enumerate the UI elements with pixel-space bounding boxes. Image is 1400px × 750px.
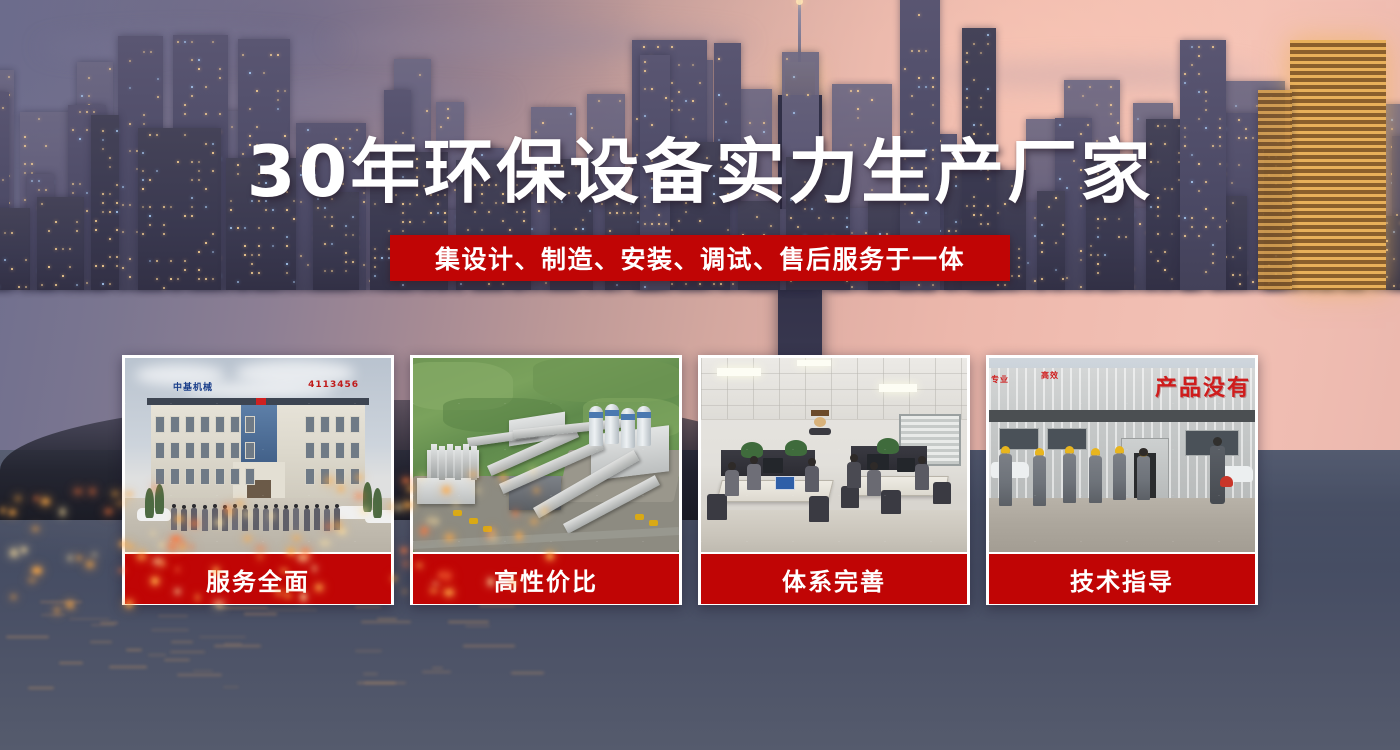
card-caption: 体系完善 bbox=[701, 554, 967, 604]
shore-light bbox=[534, 488, 539, 493]
shore-light bbox=[335, 522, 341, 528]
card-caption: 服务全面 bbox=[125, 554, 391, 604]
shore-light bbox=[395, 505, 402, 511]
shore-light bbox=[151, 577, 159, 585]
shore-light bbox=[171, 536, 181, 542]
worker-figure bbox=[1113, 454, 1126, 500]
shore-light bbox=[445, 534, 455, 541]
shore-light bbox=[32, 567, 42, 574]
water-light-streak bbox=[465, 625, 490, 627]
shore-light bbox=[151, 532, 154, 535]
subtitle-bar: 集设计、制造、安装、调试、售后服务于一体 bbox=[390, 235, 1010, 281]
feature-card[interactable]: 高性价比 bbox=[410, 355, 682, 605]
workers-training-at-factory-photo: 专业 高效 产品没有 bbox=[989, 358, 1255, 552]
office-plant bbox=[785, 440, 807, 456]
staff-person bbox=[253, 508, 259, 530]
water-light-streak bbox=[511, 672, 544, 674]
person-head bbox=[870, 462, 878, 470]
storage-silo bbox=[605, 404, 619, 444]
shore-light bbox=[1, 508, 5, 513]
person-head bbox=[850, 454, 858, 462]
water-light-streak bbox=[364, 682, 406, 684]
shore-light bbox=[125, 600, 133, 608]
parked-car bbox=[137, 508, 171, 521]
shore-light bbox=[286, 594, 291, 598]
staff-person bbox=[293, 508, 299, 530]
staff-person bbox=[202, 509, 208, 531]
shore-light bbox=[511, 579, 515, 586]
shore-light bbox=[168, 543, 177, 551]
worker-figure bbox=[1089, 456, 1102, 503]
shore-light bbox=[228, 508, 232, 515]
excavator bbox=[635, 514, 644, 520]
water-light-streak bbox=[363, 673, 378, 675]
water-light-streak bbox=[170, 651, 205, 653]
chair bbox=[809, 496, 829, 522]
staff-person bbox=[263, 509, 269, 531]
feature-card[interactable]: 专业 高效 产品没有 技术指导 bbox=[986, 355, 1258, 605]
plant-stack bbox=[431, 444, 437, 478]
plant-stack bbox=[439, 446, 445, 480]
person-head bbox=[728, 462, 736, 470]
wall-slogan-mid: 高效 bbox=[1041, 370, 1059, 381]
skyline-building bbox=[0, 208, 30, 290]
shore-light bbox=[41, 498, 50, 505]
water-light-streak bbox=[355, 606, 381, 608]
person-head bbox=[750, 456, 758, 464]
shore-light bbox=[105, 509, 113, 514]
company-phone-text: 4113456 bbox=[308, 380, 359, 390]
office-worker bbox=[747, 464, 761, 490]
office-worker bbox=[725, 470, 739, 496]
water-light-streak bbox=[193, 670, 212, 672]
shore-light bbox=[444, 572, 451, 580]
shore-light bbox=[11, 595, 16, 598]
wall-decal bbox=[805, 410, 835, 436]
water-light-streak bbox=[479, 605, 516, 607]
water-light-streak bbox=[151, 629, 189, 631]
shore-light bbox=[256, 546, 265, 551]
card-caption-text: 服务全面 bbox=[206, 562, 310, 597]
chair bbox=[933, 482, 951, 504]
shore-light bbox=[213, 567, 218, 574]
staff-person bbox=[212, 508, 218, 530]
subtitle-text: 集设计、制造、安装、调试、售后服务于一体 bbox=[435, 240, 965, 276]
plant-stack bbox=[447, 444, 453, 478]
water-light-streak bbox=[361, 621, 411, 623]
water-light-streak bbox=[463, 645, 515, 647]
storage-silo bbox=[637, 406, 651, 446]
water-light-streak bbox=[214, 645, 261, 647]
card-caption: 技术指导 bbox=[989, 554, 1255, 604]
storage-silo bbox=[621, 408, 635, 448]
office-worker bbox=[847, 462, 861, 488]
shore-light bbox=[434, 519, 438, 524]
shore-light bbox=[417, 563, 422, 569]
feature-card[interactable]: 体系完善 bbox=[698, 355, 970, 605]
company-sign-text: 中基机械 bbox=[173, 380, 213, 393]
shore-light bbox=[298, 554, 308, 560]
staff-person bbox=[232, 508, 238, 530]
water-light-streak bbox=[69, 618, 110, 620]
shore-light bbox=[325, 477, 333, 485]
chair bbox=[841, 486, 859, 508]
card-caption-text: 高性价比 bbox=[494, 562, 598, 597]
water-light-streak bbox=[6, 636, 48, 638]
shore-light bbox=[176, 517, 184, 521]
wall-slogan-left: 专业 bbox=[991, 374, 1009, 385]
feature-card[interactable]: 中基机械 4113456 服务全面 bbox=[122, 355, 394, 605]
staff-person bbox=[283, 509, 289, 531]
water-light-streak bbox=[223, 686, 238, 688]
person-head bbox=[808, 458, 816, 466]
shore-light bbox=[513, 511, 518, 516]
water-light-streak bbox=[91, 624, 115, 626]
shore-light bbox=[355, 493, 364, 499]
shore-light bbox=[137, 554, 146, 560]
excavator bbox=[649, 520, 658, 526]
water-light-streak bbox=[177, 674, 222, 676]
water-light-streak bbox=[126, 649, 142, 651]
office-plant bbox=[877, 438, 899, 454]
water-light-streak bbox=[267, 609, 317, 611]
shore-light bbox=[34, 497, 40, 500]
shore-light bbox=[320, 541, 330, 545]
promo-banner: 30年环保设备实力生产厂家 集设计、制造、安装、调试、售后服务于一体 中基机械 … bbox=[0, 0, 1400, 750]
shore-light bbox=[516, 532, 522, 540]
shore-light bbox=[501, 474, 505, 480]
office-worker bbox=[915, 464, 929, 490]
water-light-streak bbox=[244, 613, 277, 615]
banner-headline: 30年环保设备实力生产厂家 bbox=[0, 133, 1400, 211]
aerial-industrial-plant-photo bbox=[413, 358, 679, 552]
chair bbox=[707, 494, 727, 520]
worker-figure bbox=[999, 454, 1012, 506]
card-caption-text: 体系完善 bbox=[782, 562, 886, 597]
shore-light bbox=[10, 549, 18, 557]
shore-light bbox=[313, 565, 316, 571]
excavator bbox=[469, 518, 478, 524]
chair bbox=[881, 490, 901, 514]
water-light-streak bbox=[171, 641, 192, 643]
shore-light bbox=[160, 562, 166, 566]
shore-light bbox=[403, 502, 413, 508]
office-worker bbox=[805, 466, 819, 492]
plant-stack bbox=[455, 446, 461, 480]
shore-light bbox=[15, 496, 20, 501]
tower-beacon-light bbox=[796, 0, 803, 5]
shore-light bbox=[90, 488, 94, 495]
worker-figure bbox=[1137, 456, 1150, 500]
water-light-streak bbox=[40, 601, 82, 603]
flag bbox=[256, 398, 266, 405]
red-helmet bbox=[1220, 476, 1233, 487]
shore-light bbox=[175, 589, 180, 593]
card-caption-text: 技术指导 bbox=[1070, 562, 1174, 597]
plant-stack bbox=[463, 444, 469, 478]
shore-light bbox=[119, 569, 124, 573]
shore-light bbox=[160, 542, 164, 548]
water-light-streak bbox=[432, 667, 443, 669]
office-worker bbox=[867, 470, 881, 496]
water-light-streak bbox=[90, 641, 111, 643]
feature-card-row: 中基机械 4113456 服务全面 bbox=[122, 355, 1278, 605]
shore-light bbox=[196, 594, 199, 601]
water-light-streak bbox=[355, 650, 382, 652]
shore-light bbox=[403, 561, 408, 567]
monitor bbox=[897, 458, 915, 472]
shore-light bbox=[326, 524, 331, 529]
shore-light bbox=[237, 501, 243, 506]
water-light-streak bbox=[59, 662, 83, 664]
shore-light bbox=[276, 589, 280, 596]
water-light-streak bbox=[377, 618, 398, 620]
monitor bbox=[763, 458, 783, 473]
shore-light bbox=[116, 502, 126, 506]
staff-person bbox=[304, 509, 310, 531]
shore-light bbox=[360, 508, 367, 514]
shore-light bbox=[420, 474, 424, 480]
worker-figure bbox=[1063, 454, 1076, 503]
shore-light bbox=[402, 478, 410, 483]
office-building-with-staff-photo: 中基机械 4113456 bbox=[125, 358, 391, 552]
water-light-streak bbox=[28, 687, 54, 689]
shore-light bbox=[546, 552, 554, 560]
person-head bbox=[918, 456, 926, 464]
excavator bbox=[453, 510, 462, 516]
wall-slogan-main: 产品没有 bbox=[1155, 370, 1251, 402]
staff-person bbox=[273, 508, 279, 530]
tree bbox=[373, 488, 382, 518]
shore-light bbox=[258, 554, 262, 559]
worker-figure bbox=[1033, 456, 1046, 506]
card-caption: 高性价比 bbox=[413, 554, 679, 604]
storage-silo bbox=[589, 406, 603, 446]
supervisor-figure bbox=[1210, 446, 1225, 504]
water-light-streak bbox=[164, 659, 190, 661]
shore-light bbox=[443, 487, 451, 493]
shore-light bbox=[191, 520, 198, 527]
laptop bbox=[775, 476, 795, 490]
shore-light bbox=[315, 584, 322, 591]
water-light-streak bbox=[158, 615, 188, 617]
shore-light bbox=[119, 542, 128, 546]
tree bbox=[145, 488, 154, 518]
water-light-streak bbox=[109, 666, 146, 668]
staff-person bbox=[314, 508, 320, 530]
open-plan-office-interior-photo bbox=[701, 358, 967, 552]
